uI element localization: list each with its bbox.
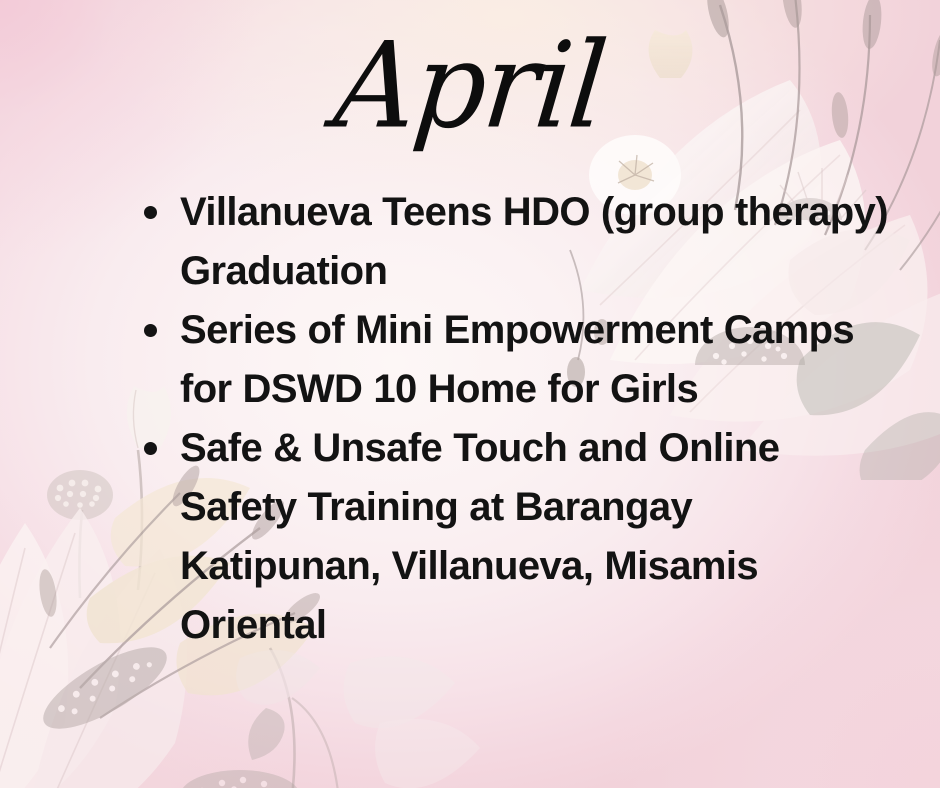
content-area: Villanueva Teens HDO (group therapy) Gra…	[128, 183, 888, 655]
page-title: April	[330, 27, 610, 146]
bullet-dot-icon	[144, 206, 157, 219]
floral-bottom-center-decoration	[230, 638, 530, 788]
list-item: Villanueva Teens HDO (group therapy) Gra…	[128, 183, 888, 301]
title-container: April	[0, 6, 940, 166]
list-item-text: Villanueva Teens HDO (group therapy) Gra…	[180, 190, 888, 293]
list-item-text: Series of Mini Empowerment Camps for DSW…	[180, 308, 854, 411]
bullet-dot-icon	[144, 442, 157, 455]
list-item-text: Safe & Unsafe Touch and Online Safety Tr…	[180, 426, 779, 647]
list-item: Safe & Unsafe Touch and Online Safety Tr…	[128, 419, 888, 655]
poster-canvas: April Villanueva Teens HDO (group therap…	[0, 0, 940, 788]
bullet-dot-icon	[144, 324, 157, 337]
list-item: Series of Mini Empowerment Camps for DSW…	[128, 301, 888, 419]
activity-list: Villanueva Teens HDO (group therapy) Gra…	[128, 183, 888, 655]
